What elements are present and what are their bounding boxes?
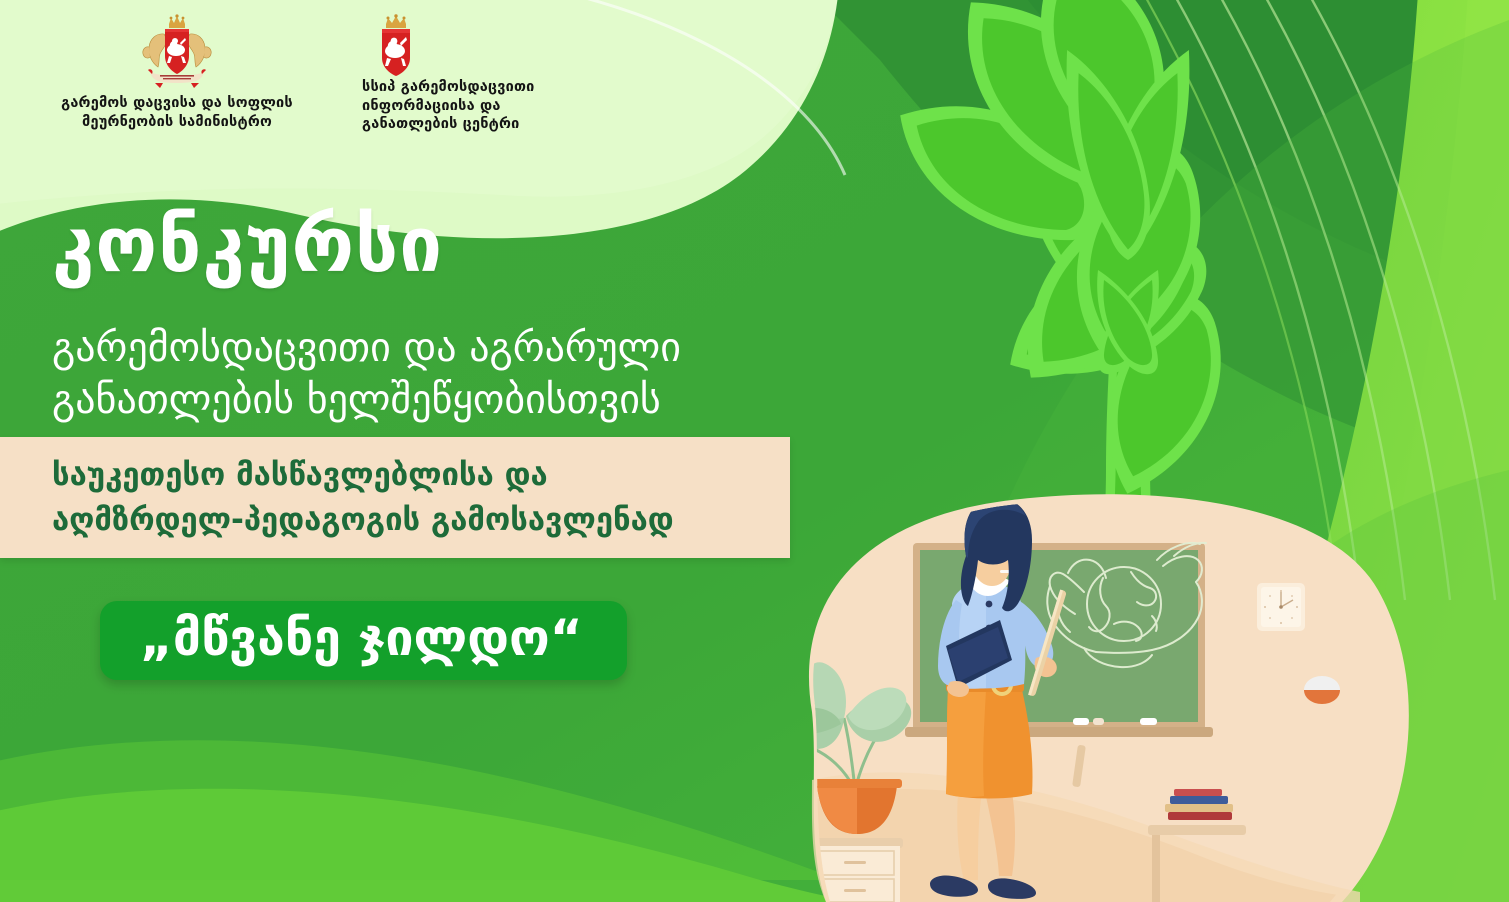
purpose-banner: საუკეთესო მასწავლებლისა და აღმზრდელ-პედა… (0, 437, 790, 558)
award-name-pill: „მწვანე ჯილდო“ (100, 601, 627, 680)
eraser (1304, 676, 1340, 704)
page-subtitle: გარემოსდაცვითი და აგრარული განათლების ხე… (52, 322, 812, 426)
wall-clock (1257, 583, 1305, 631)
purpose-banner-line-2: აღმზრდელ-პედაგოგის გამოსავლენად (52, 498, 790, 542)
logo-center-label: სსიპ გარემოსდაცვითი ინფორმაციისა და განა… (362, 78, 535, 134)
purpose-banner-line-1: საუკეთესო მასწავლებლისა და (52, 453, 790, 497)
georgia-small-coat-of-arms (370, 14, 422, 76)
logo-ministry-label: გარემოს დაცვისა და სოფლის მეურნეობის სამ… (61, 94, 293, 131)
logo-row: გარემოს დაცვისა და სოფლის მეურნეობის სამ… (52, 14, 577, 134)
logo-center: სსიპ გარემოსდაცვითი ინფორმაციისა და განა… (362, 14, 577, 134)
logo-ministry: გარემოს დაცვისა და სოფლის მეურნეობის სამ… (52, 14, 302, 131)
poster-canvas: გარემოს დაცვისა და სოფლის მეურნეობის სამ… (0, 0, 1509, 902)
georgia-coat-of-arms (136, 14, 218, 90)
award-name-label: „მწვანე ჯილდო“ (140, 612, 583, 665)
page-title: კონკურსი (52, 207, 443, 283)
